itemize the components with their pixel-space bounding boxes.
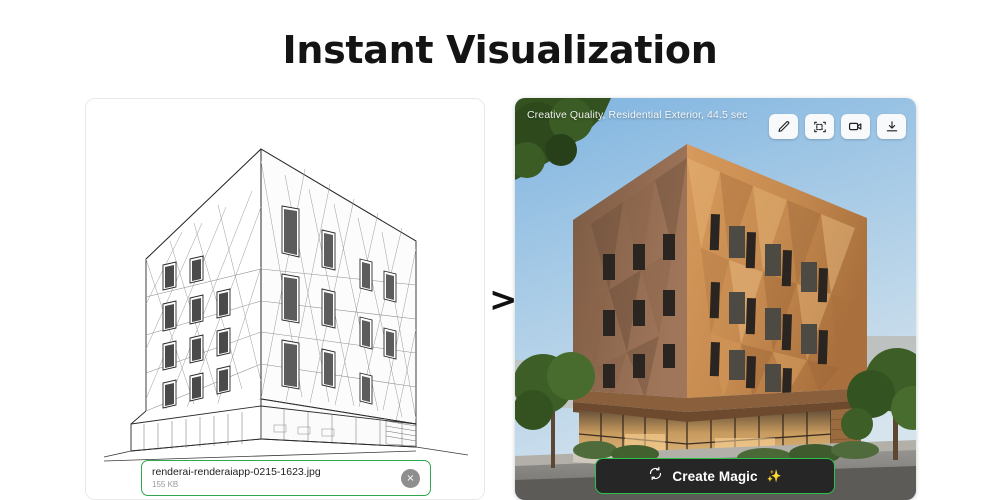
transform-arrow-icon: > [489, 282, 515, 318]
video-button[interactable] [841, 114, 870, 139]
upscale-button[interactable] [805, 114, 834, 139]
sparkle-icon: ✨ [767, 469, 782, 483]
file-size: 155 KB [152, 480, 401, 489]
render-image [515, 98, 916, 500]
video-icon [848, 119, 863, 134]
create-magic-button[interactable]: Create Magic ✨ [595, 458, 835, 494]
file-name: renderai-renderaiapp-0215-1623.jpg [152, 466, 401, 478]
upscale-icon [813, 120, 827, 134]
create-magic-label: Create Magic [672, 469, 757, 484]
remove-file-button[interactable]: × [401, 469, 420, 488]
uploaded-file-chip[interactable]: renderai-renderaiapp-0215-1623.jpg 155 K… [141, 460, 431, 496]
after-render-panel: Creative Quality, Residential Exterior, … [515, 98, 916, 500]
before-sketch-panel: renderai-renderaiapp-0215-1623.jpg 155 K… [85, 98, 485, 500]
sketch-image [86, 99, 484, 499]
download-button[interactable] [877, 114, 906, 139]
file-meta: renderai-renderaiapp-0215-1623.jpg 155 K… [152, 466, 401, 489]
download-icon [885, 120, 899, 134]
refresh-icon [648, 466, 663, 486]
page-title: Instant Visualization [0, 28, 1000, 72]
render-toolbar [769, 114, 906, 139]
render-caption: Creative Quality, Residential Exterior, … [527, 109, 748, 121]
pencil-icon [777, 120, 791, 134]
instant-visualization-page: Instant Visualization [0, 0, 1000, 500]
edit-button[interactable] [769, 114, 798, 139]
